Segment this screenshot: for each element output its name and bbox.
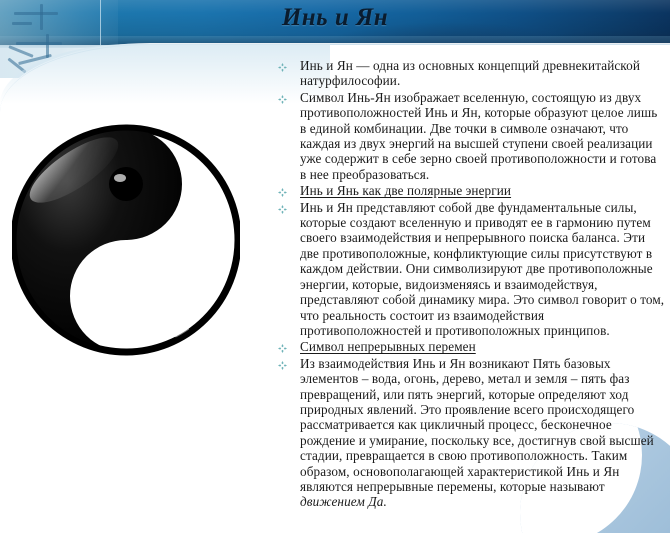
paragraph-text: Символ Инь-Ян изображает вселенную, сост… bbox=[300, 90, 666, 182]
diamond-bullet-icon bbox=[278, 200, 300, 214]
diamond-bullet-icon bbox=[278, 58, 300, 72]
list-item: Инь и Янь как две полярные энергии bbox=[278, 183, 666, 198]
paragraph-text-italic: движением Да. bbox=[300, 494, 387, 509]
list-item: Инь и Ян представляют собой две фундамен… bbox=[278, 200, 666, 339]
diamond-bullet-icon bbox=[278, 90, 300, 104]
diamond-bullet-icon bbox=[278, 356, 300, 370]
list-item: Символ непрерывных перемен bbox=[278, 339, 666, 354]
list-item: Символ Инь-Ян изображает вселенную, сост… bbox=[278, 90, 666, 182]
list-item: Из взаимодействия Инь и Ян возникают Пят… bbox=[278, 356, 666, 510]
slide-root: Инь и Ян bbox=[0, 0, 670, 533]
yin-yang-symbol-icon bbox=[12, 104, 240, 376]
diamond-bullet-icon bbox=[278, 183, 300, 197]
paragraph-text: Инь и Ян — одна из основных концепций др… bbox=[300, 58, 666, 89]
body-text-column: Инь и Ян — одна из основных концепций др… bbox=[278, 58, 666, 511]
section-heading: Инь и Янь как две полярные энергии bbox=[300, 183, 666, 198]
diamond-bullet-icon bbox=[278, 339, 300, 353]
section-heading: Символ непрерывных перемен bbox=[300, 339, 666, 354]
paragraph-text: Инь и Ян представляют собой две фундамен… bbox=[300, 200, 666, 339]
list-item: Инь и Ян — одна из основных концепций др… bbox=[278, 58, 666, 89]
paragraph-text-main: Из взаимодействия Инь и Ян возникают Пят… bbox=[300, 356, 654, 494]
paragraph-text: Из взаимодействия Инь и Ян возникают Пят… bbox=[300, 356, 666, 510]
